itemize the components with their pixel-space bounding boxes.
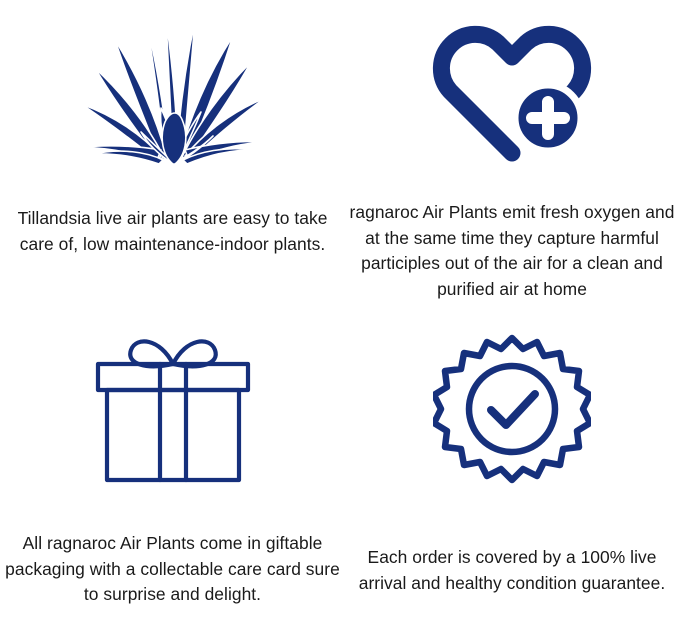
feature-cell-gift-packaging: All ragnaroc Air Plants come in giftable… bbox=[0, 308, 345, 617]
feature-caption: Each order is covered by a 100% live arr… bbox=[347, 545, 677, 596]
air-plant-icon bbox=[73, 10, 273, 170]
feature-cell-air-quality: ragnaroc Air Plants emit fresh oxygen an… bbox=[345, 0, 679, 308]
heart-plus-icon bbox=[428, 14, 596, 166]
verified-badge-icon bbox=[433, 330, 591, 488]
feature-cell-guarantee: Each order is covered by a 100% live arr… bbox=[345, 308, 679, 617]
feature-grid: Tillandsia live air plants are easy to t… bbox=[0, 0, 679, 617]
feature-caption: ragnaroc Air Plants emit fresh oxygen an… bbox=[347, 200, 677, 302]
feature-caption: Tillandsia live air plants are easy to t… bbox=[2, 206, 343, 257]
gift-box-icon bbox=[80, 326, 266, 488]
feature-cell-air-plant: Tillandsia live air plants are easy to t… bbox=[0, 0, 345, 308]
feature-caption: All ragnaroc Air Plants come in giftable… bbox=[2, 531, 343, 608]
